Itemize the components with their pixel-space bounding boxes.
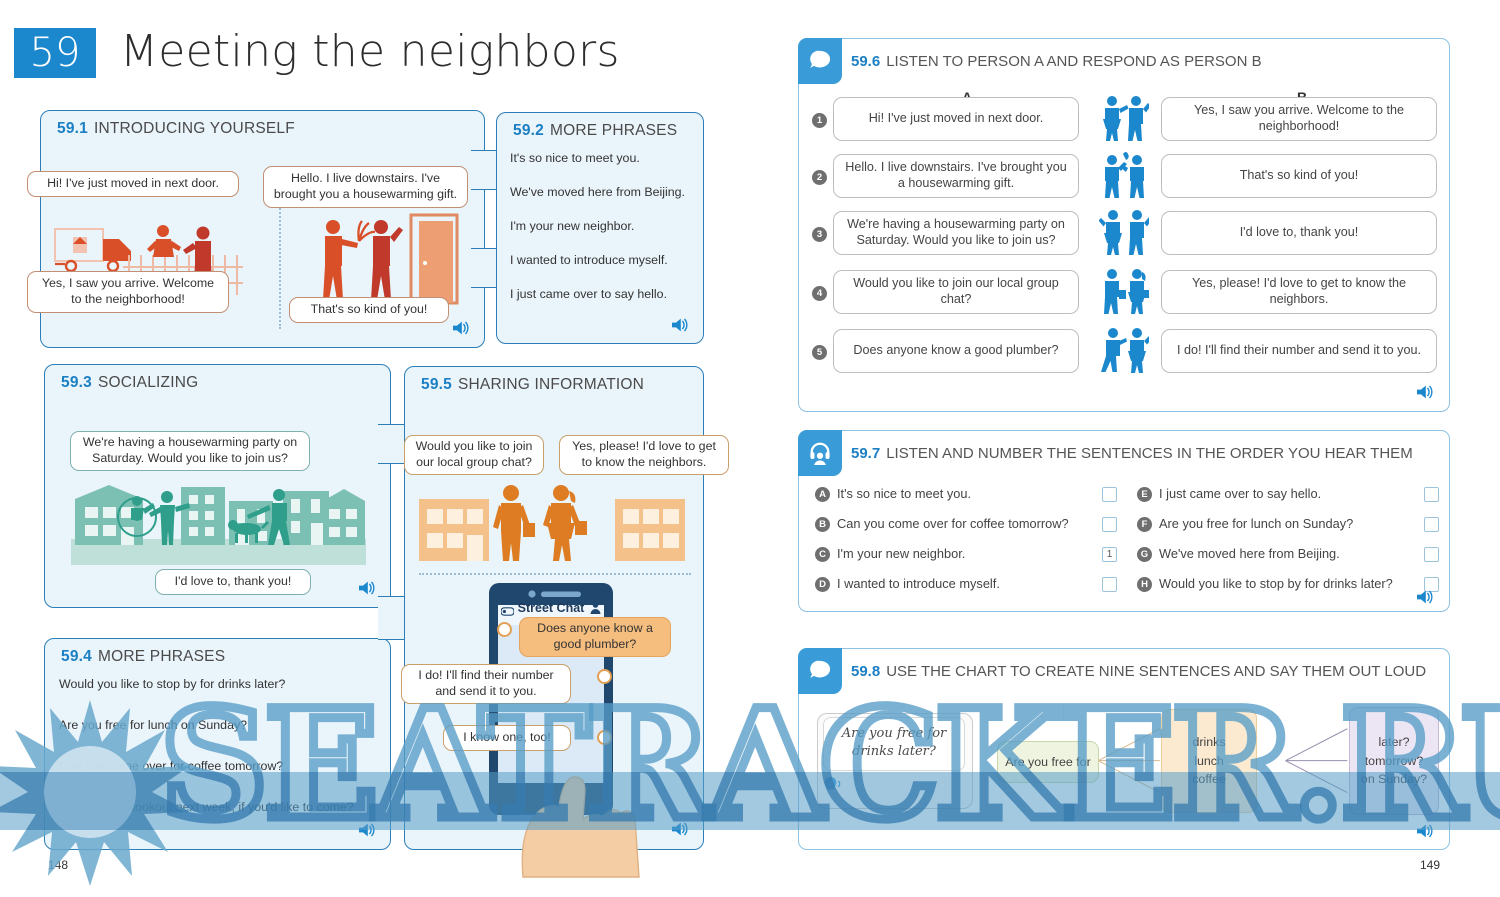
chapter-number: 59 bbox=[30, 33, 81, 73]
row-b-text: That's so kind of you! bbox=[1161, 154, 1437, 198]
item-letter: B bbox=[815, 517, 830, 532]
chart-cell: coffee bbox=[1192, 770, 1226, 789]
bubble-59-1-a: Hi! I've just moved in next door. bbox=[27, 171, 239, 197]
bubble-59-1-c: Hello. I live downstairs. I've brought y… bbox=[263, 166, 468, 208]
row-a-text: Hello. I live downstairs. I've brought y… bbox=[833, 154, 1079, 198]
row-number: 5 bbox=[812, 345, 827, 360]
bubble-59-1-d: That's so kind of you! bbox=[289, 297, 449, 323]
exercise-59-8-title: 59.8USE THE CHART TO CREATE NINE SENTENC… bbox=[851, 663, 1426, 680]
chart-cell: lunch bbox=[1194, 752, 1224, 771]
illustration-pair-5 bbox=[1099, 327, 1149, 373]
illustration-hand bbox=[501, 759, 691, 879]
row-number: 2 bbox=[812, 170, 827, 185]
section-59-1-title: 59.1INTRODUCING YOURSELF bbox=[57, 120, 295, 138]
item-letter: G bbox=[1137, 547, 1152, 562]
row-b-text: Yes, I saw you arrive. Welcome to the ne… bbox=[1161, 97, 1437, 141]
chat-avatar-3 bbox=[597, 730, 612, 745]
phrase-item: It's so nice to meet you. bbox=[510, 151, 696, 165]
speaker-icon[interactable] bbox=[451, 320, 471, 336]
chapter-number-badge: 59 bbox=[14, 28, 96, 78]
row-a-text: Does anyone know a good plumber? bbox=[833, 329, 1079, 373]
item-text: I'm your new neighbor. bbox=[837, 546, 965, 561]
item-text: I just came over to say hello. bbox=[1159, 486, 1321, 501]
row-number: 1 bbox=[812, 113, 827, 128]
speaker-icon[interactable] bbox=[357, 580, 377, 596]
chat-message-1: Does anyone know a good plumber? bbox=[519, 617, 671, 657]
illustration-street-scene bbox=[71, 483, 366, 565]
phrase-item: We've moved here from Beijing. bbox=[510, 185, 696, 199]
illustration-pair-2 bbox=[1099, 152, 1149, 198]
exercise-59-7-title: 59.7LISTEN AND NUMBER THE SENTENCES IN T… bbox=[851, 445, 1413, 462]
chart-cell: drinks bbox=[1192, 733, 1225, 752]
row-number: 3 bbox=[812, 227, 827, 242]
row-a-text: Hi! I've just moved in next door. bbox=[833, 97, 1079, 141]
item-text: Would you like to stop by for drinks lat… bbox=[1159, 576, 1393, 591]
phone-profile-icon[interactable] bbox=[590, 601, 601, 613]
phrase-item: Are you free for lunch on Sunday? bbox=[59, 718, 379, 732]
answer-box[interactable] bbox=[1424, 487, 1439, 502]
illustration-pair-4 bbox=[1099, 268, 1149, 314]
item-text: I wanted to introduce myself. bbox=[837, 576, 1000, 591]
example-speaker-icon[interactable] bbox=[823, 776, 843, 792]
speaker-icon[interactable] bbox=[670, 821, 690, 837]
page-number-left: 148 bbox=[48, 858, 68, 872]
section-59-5-title: 59.5SHARING INFORMATION bbox=[421, 376, 644, 394]
item-letter: A bbox=[815, 487, 830, 502]
speaker-icon[interactable] bbox=[1415, 384, 1435, 400]
row-b-text: I'd love to, thank you! bbox=[1161, 211, 1437, 255]
phrase-item: I just came over to say hello. bbox=[510, 287, 696, 301]
illustration-housewarming-gift bbox=[301, 211, 471, 311]
answer-box[interactable]: 1 bbox=[1102, 547, 1117, 562]
row-number: 4 bbox=[812, 286, 827, 301]
section-59-4-title: 59.4MORE PHRASES bbox=[61, 648, 225, 666]
chart-cell: later? bbox=[1379, 733, 1410, 752]
phrase-item: I'm having a cookout next week, if you'd… bbox=[59, 800, 379, 814]
phone-app-title: Street Chat bbox=[515, 601, 587, 615]
chart-cell: on Sunday? bbox=[1361, 770, 1427, 789]
answer-box[interactable] bbox=[1424, 517, 1439, 532]
item-letter: D bbox=[815, 577, 830, 592]
illustration-pair-1 bbox=[1099, 95, 1149, 141]
speech-bubble-icon bbox=[798, 38, 842, 84]
bubble-59-5-a: Would you like to join our local group c… bbox=[404, 435, 544, 475]
example-answer-text: Are you free for drinks later? bbox=[831, 725, 957, 760]
illustration-neighbors-chat bbox=[419, 483, 689, 565]
row-a-text: Would you like to join our local group c… bbox=[833, 270, 1079, 314]
page-number-right: 149 bbox=[1420, 858, 1440, 872]
item-text: Can you come over for coffee tomorrow? bbox=[837, 516, 1069, 531]
exercise-59-6-title: 59.6LISTEN TO PERSON A AND RESPOND AS PE… bbox=[851, 53, 1262, 70]
bubble-59-3-a: We're having a housewarming party on Sat… bbox=[70, 431, 310, 471]
item-text: We've moved here from Beijing. bbox=[1159, 546, 1340, 561]
phrase-item: I'm your new neighbor. bbox=[510, 219, 696, 233]
speech-bubble-icon bbox=[798, 648, 842, 694]
answer-box[interactable] bbox=[1102, 517, 1117, 532]
item-text: Are you free for lunch on Sunday? bbox=[1159, 516, 1353, 531]
divider-dotted bbox=[419, 573, 691, 575]
chart-cell: Are you free for bbox=[1005, 753, 1090, 772]
exercise-59-8: 59.8USE THE CHART TO CREATE NINE SENTENC… bbox=[798, 648, 1450, 850]
chart-column-1: Are you free for bbox=[997, 741, 1099, 783]
chat-message-3: I know one, too! bbox=[443, 725, 571, 751]
phrase-item: Would you like to stop by for drinks lat… bbox=[59, 677, 379, 691]
section-59-4: 59.4MORE PHRASES Would you like to stop … bbox=[44, 638, 391, 850]
illustration-pair-3 bbox=[1099, 209, 1149, 255]
section-59-2: 59.2MORE PHRASES It's so nice to meet yo… bbox=[496, 112, 704, 344]
phone-back-icon[interactable] bbox=[501, 603, 514, 612]
headphones-icon bbox=[798, 430, 842, 476]
section-59-3: 59.3SOCIALIZING We're having a housewarm… bbox=[44, 364, 391, 608]
page-title: Meeting the neighbors bbox=[120, 26, 620, 77]
item-letter: E bbox=[1137, 487, 1152, 502]
item-letter: H bbox=[1137, 577, 1152, 592]
speaker-icon[interactable] bbox=[670, 317, 690, 333]
section-59-2-title: 59.2MORE PHRASES bbox=[513, 122, 677, 140]
chart-cell: tomorrow? bbox=[1365, 752, 1424, 771]
answer-box[interactable] bbox=[1102, 487, 1117, 502]
speaker-icon[interactable] bbox=[357, 822, 377, 838]
textbook-spread: 59 Meeting the neighbors 59.1INTRODUCING… bbox=[0, 0, 1500, 897]
speaker-icon[interactable] bbox=[1415, 823, 1435, 839]
chat-avatar-2 bbox=[597, 669, 612, 684]
section-59-3-title: 59.3SOCIALIZING bbox=[61, 374, 198, 392]
bubble-59-5-b: Yes, please! I'd love to get to know the… bbox=[559, 435, 729, 475]
phrase-item: Can you come over for coffee tomorrow? bbox=[59, 759, 379, 773]
chat-avatar-1 bbox=[497, 622, 512, 637]
bubble-59-1-b: Yes, I saw you arrive. Welcome to the ne… bbox=[27, 271, 229, 313]
row-b-text: Yes, please! I'd love to get to know the… bbox=[1161, 270, 1437, 314]
speaker-icon[interactable] bbox=[1415, 589, 1435, 605]
row-a-text: We're having a housewarming party on Sat… bbox=[833, 211, 1079, 255]
exercise-59-7: 59.7LISTEN AND NUMBER THE SENTENCES IN T… bbox=[798, 430, 1450, 612]
item-letter: F bbox=[1137, 517, 1152, 532]
exercise-59-6: 59.6LISTEN TO PERSON A AND RESPOND AS PE… bbox=[798, 38, 1450, 412]
row-b-text: I do! I'll find their number and send it… bbox=[1161, 329, 1437, 373]
answer-box[interactable] bbox=[1424, 547, 1439, 562]
section-59-1: 59.1INTRODUCING YOURSELF bbox=[40, 110, 485, 348]
chart-column-3: later? tomorrow? on Sunday? bbox=[1349, 707, 1439, 815]
chat-message-2: I do! I'll find their number and send it… bbox=[401, 664, 571, 704]
item-letter: C bbox=[815, 547, 830, 562]
phrase-item: I wanted to introduce myself. bbox=[510, 253, 696, 267]
bubble-59-3-b: I'd love to, thank you! bbox=[155, 569, 311, 595]
item-text: It's so nice to meet you. bbox=[837, 486, 971, 501]
chart-column-2: drinks lunch coffee bbox=[1161, 709, 1257, 813]
section-59-5: 59.5SHARING INFORMATION Would you like t… bbox=[404, 366, 704, 850]
answer-box[interactable] bbox=[1102, 577, 1117, 592]
